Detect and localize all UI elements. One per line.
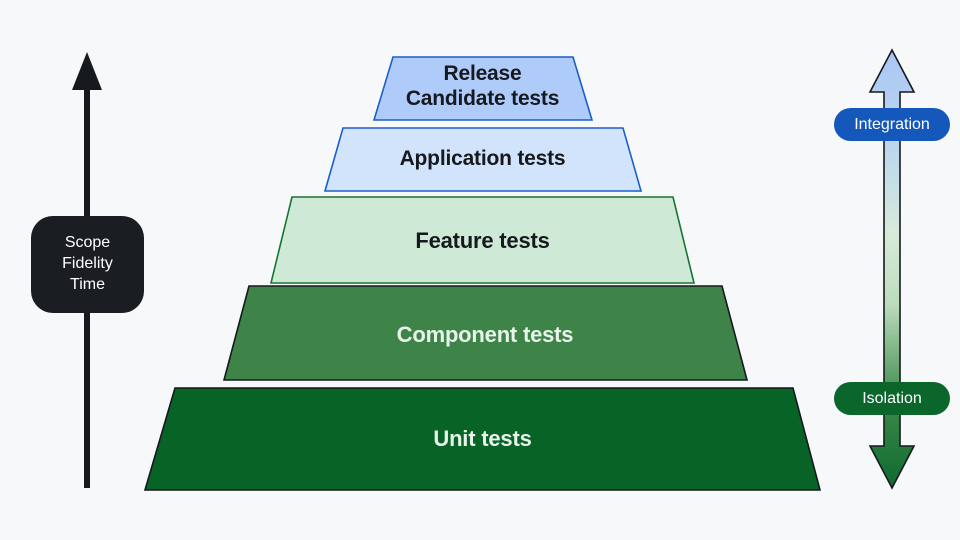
- test-pyramid-graphic: [0, 0, 960, 540]
- pyramid-tier-application: [325, 128, 641, 191]
- pyramid-tier-feature: [271, 197, 694, 283]
- capsule-line-time: Time: [70, 275, 105, 296]
- pyramid-tier-release-candidate: [374, 57, 592, 120]
- integration-badge: Integration: [834, 108, 950, 141]
- scope-fidelity-time-capsule: Scope Fidelity Time: [31, 216, 144, 313]
- pyramid-tier-unit: [145, 388, 820, 490]
- capsule-line-scope: Scope: [65, 233, 110, 254]
- isolation-badge: Isolation: [834, 382, 950, 415]
- capsule-line-fidelity: Fidelity: [62, 254, 113, 275]
- diagram-canvas: Release Candidate tests Application test…: [0, 0, 960, 540]
- pyramid-tier-component: [224, 286, 747, 380]
